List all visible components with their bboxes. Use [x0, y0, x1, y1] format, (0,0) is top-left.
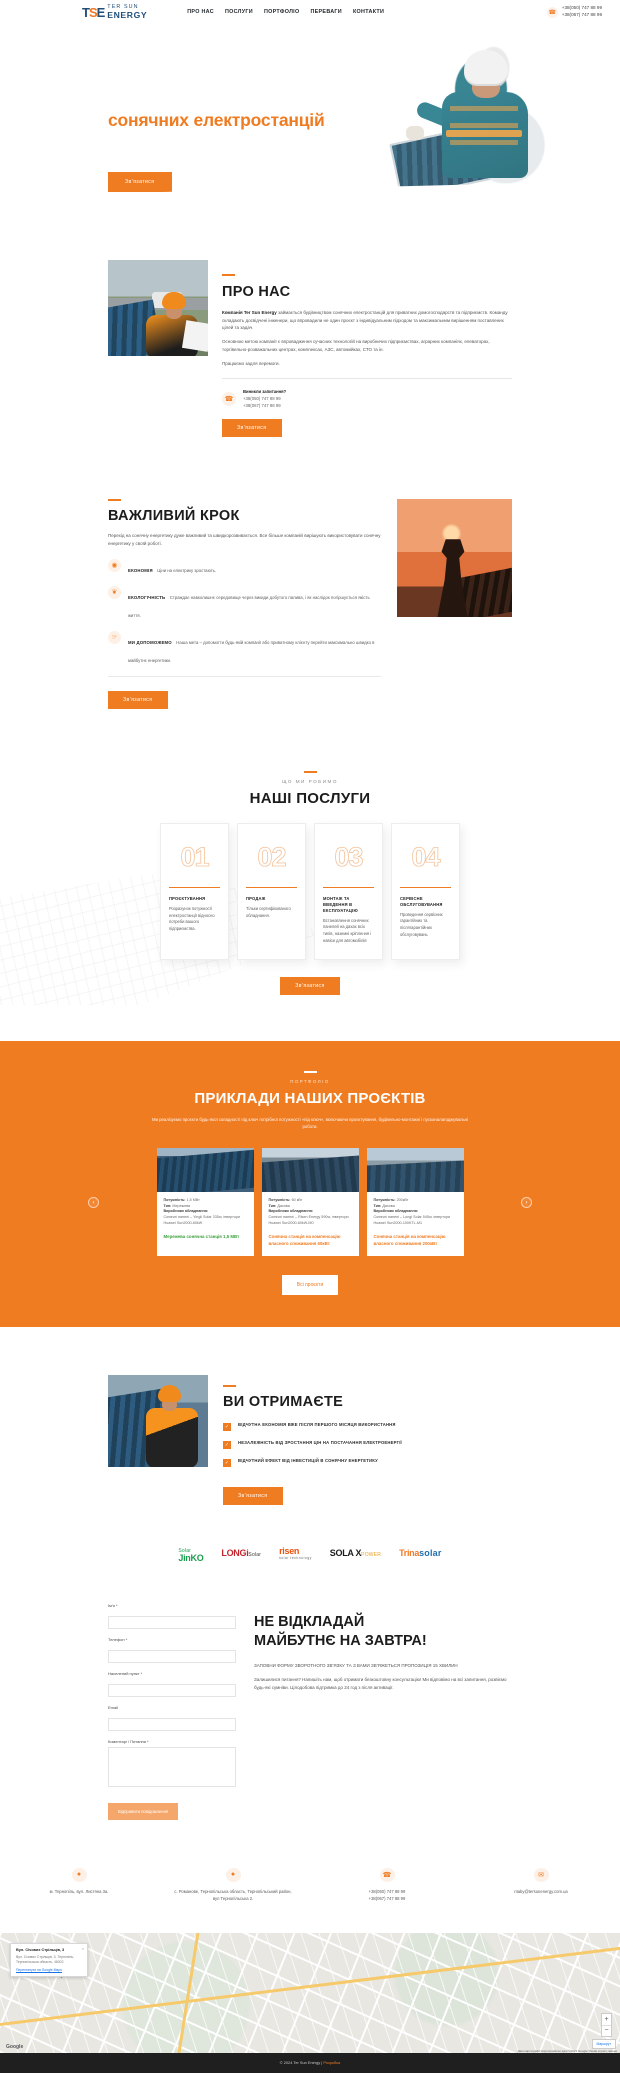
contact-item-email: ✉ ntaby@tersunenergy.com.ua: [481, 1868, 601, 1903]
site-logo[interactable]: TSE TER SUN ENERGY: [82, 5, 147, 20]
logo-mark-icon: TSE: [82, 6, 104, 19]
zoom-out-button[interactable]: −: [602, 2025, 611, 2036]
brand-suffix: POWER: [361, 1552, 381, 1558]
hero-title-line-1: Проєктування та будівництво: [108, 87, 362, 107]
portfolio-type-value: Мережева: [172, 1204, 190, 1208]
portfolio-card-meta: Потужність: 200кВт Тип: Дахова Виробники…: [374, 1198, 457, 1228]
portfolio-equipment-value: Сонячні панелі – Longi Solar 545w, інвер…: [374, 1215, 451, 1225]
form-paragraph-2: Залишилися питання? Напишіть нам, щоб от…: [254, 1676, 512, 1691]
map-card-link[interactable]: Переглянути на Google Maps: [16, 1968, 82, 1972]
portfolio-card-image: [262, 1148, 359, 1192]
portfolio-equipment-value: Сонячні панелі – Risen Energy 590w, інве…: [269, 1215, 349, 1225]
name-field-label: Ім'я *: [108, 1603, 236, 1608]
phone-icon: ☎: [222, 392, 236, 406]
contact-form: Ім'я * Телефон * Населений пункт * Email…: [108, 1603, 236, 1820]
portfolio-type-value: Дахова: [277, 1204, 289, 1208]
footer-text: © 2024 Ter Sun Energy | Розробка: [280, 2060, 340, 2065]
check-icon: ✓: [223, 1423, 231, 1431]
portfolio-subtitle: Ми реалізуємо проєкти будь-якої складнос…: [145, 1116, 475, 1131]
about-paragraph-1: Компанія Ter Sun Energy займається будів…: [222, 309, 512, 332]
brand-logo-jinko: SolarJinKO: [178, 1545, 203, 1563]
portfolio-card-name: Мережева сонячна станція 1,5 МВт: [164, 1234, 247, 1240]
portfolio-equipment-label: Виробники обладнання:: [269, 1209, 314, 1213]
service-rule: [169, 887, 220, 888]
location-icon: ●: [72, 1868, 87, 1882]
contact-item-phones: ☎ +38(050) 747 88 99 +38(067) 747 88 99: [327, 1868, 447, 1903]
service-rule: [323, 887, 374, 888]
portfolio-equipment-label: Виробники обладнання:: [374, 1209, 419, 1213]
contact-address-1-text: м. Тернопіль, вул. Листяна 3а.: [50, 1889, 109, 1896]
brand-name: SOLA X: [330, 1548, 361, 1558]
list-item: ☞ МИ ДОПОМОЖЕМО Наша мета – допомогти бу…: [108, 631, 381, 667]
service-number: 02: [246, 844, 297, 871]
city-input[interactable]: [108, 1684, 236, 1697]
brand-suffix: solar: [419, 1548, 442, 1558]
portfolio-card-name: Сонячна станція на компенсацію власного …: [269, 1234, 352, 1247]
service-rule: [246, 887, 297, 888]
contact-phones-text[interactable]: +38(050) 747 88 99 +38(067) 747 88 99: [369, 1889, 406, 1903]
about-section: ПРО НАС Компанія Ter Sun Energy займаєть…: [0, 214, 620, 437]
email-input[interactable]: [108, 1718, 236, 1731]
hero-title-line-3: для власного споживання: [108, 133, 331, 153]
comment-textarea[interactable]: [108, 1747, 236, 1787]
list-item: ✓ ВІДЧУТНА ЕКОНОМІЯ ВЖЕ ПІСЛЯ ПЕРШОГО МІ…: [223, 1422, 512, 1431]
nav-item-portfolio[interactable]: ПОРТФОЛІО: [264, 9, 300, 15]
step-dash-accent: [108, 499, 121, 501]
phone-input[interactable]: [108, 1650, 236, 1663]
handshake-icon: ☞: [108, 631, 121, 644]
portfolio-card[interactable]: Потужність: 200кВт Тип: Дахова Виробники…: [367, 1148, 464, 1256]
logo-line-2: ENERGY: [107, 11, 147, 20]
form-heading: НЕ ВІДКЛАДАЙ МАЙБУТНЄ НА ЗАВТРА!: [254, 1613, 512, 1651]
portfolio-type-label: Тип:: [269, 1204, 277, 1208]
portfolio-power-value: 200кВт: [397, 1198, 409, 1202]
hero-section: Проєктування та будівництво сонячних еле…: [0, 24, 620, 214]
step-section: ВАЖЛИВИЙ КРОК Перехід на сонячну енергет…: [0, 437, 620, 708]
portfolio-card-image: [157, 1148, 254, 1192]
step-cta-button[interactable]: Зв'язатися: [108, 691, 168, 709]
benefits-heading: ВИ ОТРИМАЄТЕ: [223, 1394, 512, 1410]
benefits-dash-accent: [223, 1385, 236, 1387]
step-intro: Перехід на сонячну енергетику дуже важли…: [108, 532, 381, 547]
footer-link[interactable]: Розробка: [323, 2060, 340, 2065]
portfolio-power-label: Потужність:: [374, 1198, 396, 1202]
benefit-text: ВІДЧУТНА ЕКОНОМІЯ ВЖЕ ПІСЛЯ ПЕРШОГО МІСЯ…: [238, 1422, 396, 1429]
step-heading: ВАЖЛИВИЙ КРОК: [108, 508, 381, 524]
footer-copyright: © 2024 Ter Sun Energy |: [280, 2060, 324, 2065]
step-image: [397, 499, 512, 617]
nav-item-benefits[interactable]: ПЕРЕВАГИ: [310, 9, 342, 15]
benefits-cta-button[interactable]: Зв'язатися: [223, 1487, 283, 1505]
brand-suffix: Solar: [248, 1552, 261, 1558]
brand-logos: SolarJinKO LONGiSolar risensolar technol…: [0, 1505, 620, 1597]
portfolio-power-label: Потужність:: [164, 1198, 186, 1202]
portfolio-carousel: ‹ Потужність: 1,5 МВт Тип: Мережева Виро…: [0, 1148, 620, 1256]
hero-copy: Проєктування та будівництво сонячних еле…: [108, 86, 362, 192]
zoom-in-button[interactable]: +: [602, 2014, 611, 2025]
about-heading: ПРО НАС: [222, 284, 512, 300]
service-title: СЕРВІСНЕ ОБСЛУГОВУВАННЯ: [400, 896, 451, 908]
brand-logo-risen: risensolar technology: [279, 1547, 312, 1560]
phone-icon: ☎: [547, 7, 558, 18]
phone-icon: ☎: [380, 1868, 395, 1882]
brand-name: risen: [279, 1546, 299, 1556]
service-card[interactable]: 01 ПРОЄКТУВАННЯ Розрахунок потужності ел…: [160, 823, 229, 960]
map-card-title: Вул. Січових Стрільців, 3: [16, 1948, 82, 1953]
nav-item-contacts[interactable]: КОНТАКТИ: [353, 9, 384, 15]
list-item: ❦ ЕКОЛОГІЧНІСТЬ Страждає навколишнє сере…: [108, 586, 381, 622]
phone-field-label: Телефон *: [108, 1637, 236, 1642]
portfolio-kicker: ПОРТФОЛІО: [0, 1079, 620, 1084]
nav-item-services[interactable]: ПОСЛУГИ: [225, 9, 253, 15]
benefits-section: ВИ ОТРИМАЄТЕ ✓ ВІДЧУТНА ЕКОНОМІЯ ВЖЕ ПІС…: [0, 1327, 620, 1505]
contact-item-address-1: ● м. Тернопіль, вул. Листяна 3а.: [19, 1868, 139, 1903]
comment-field-label: Коментарі / Питання *: [108, 1739, 236, 1744]
list-item: ✓ ВІДЧУТНИЙ ЕФЕКТ ВІД ІНВЕСТИЦІЙ В СОНЯЧ…: [223, 1458, 512, 1467]
service-card[interactable]: 02 ПРОДАЖ Тільки сертифікованого обладна…: [237, 823, 306, 960]
service-card[interactable]: 03 МОНТАЖ ТА ВВЕДЕННЯ В ЕКСПЛУАТАЦІЮ Вст…: [314, 823, 383, 960]
service-text: Тільки сертифікованого обладнання.: [246, 906, 297, 920]
portfolio-all-projects-button[interactable]: Всі проєкти: [282, 1275, 338, 1295]
list-item: ◉ ЕКОНОМІЯ Ціни на електрику зростають.: [108, 559, 381, 577]
main-nav: ПРО НАС ПОСЛУГИ ПОРТФОЛІО ПЕРЕВАГИ КОНТА…: [187, 9, 384, 15]
portfolio-dash-accent: [304, 1071, 317, 1073]
hero-title-line-2: сонячних електростанцій: [108, 110, 325, 130]
contact-bar: ● м. Тернопіль, вул. Листяна 3а. ● с. Ро…: [0, 1820, 620, 1933]
brand-logo-trina: Trinasolar: [399, 1549, 442, 1558]
step-item-title: ЕКОЛОГІЧНІСТЬ: [128, 595, 165, 600]
map-roads: [0, 1933, 620, 2053]
services-cta-button[interactable]: Зв'язатися: [280, 977, 340, 995]
service-text: Проведення сервісних гарантійних та післ…: [400, 912, 451, 940]
service-title: ПРОЄКТУВАННЯ: [169, 896, 220, 902]
about-contact-question: Виникли запитання?: [243, 389, 286, 394]
site-header: TSE TER SUN ENERGY ПРО НАС ПОСЛУГИ ПОРТФ…: [0, 0, 620, 24]
about-paragraph-2: Основною метою компанії є впровадження с…: [222, 338, 512, 353]
about-company-name: Компанія Ter Sun Energy: [222, 310, 277, 315]
close-icon[interactable]: ×: [82, 1946, 84, 1951]
email-field-label: Email: [108, 1705, 236, 1710]
step-divider: Зв'язатися: [108, 676, 381, 709]
service-number: 04: [400, 844, 451, 871]
services-kicker: ЩО МИ РОБИМО: [0, 779, 620, 784]
portfolio-card-meta: Потужність: 1,5 МВт Тип: Мережева Виробн…: [164, 1198, 247, 1228]
leaf-icon: ❦: [108, 586, 121, 599]
service-text: Розрахунок потужності електростанції від…: [169, 906, 220, 934]
header-phone-1[interactable]: +38(050) 747 88 99: [562, 5, 602, 12]
portfolio-heading: ПРИКЛАДИ НАШИХ ПРОЄКТІВ: [0, 1090, 620, 1107]
portfolio-card[interactable]: Потужність: 60 кВт Тип: Дахова Виробники…: [262, 1148, 359, 1256]
services-section: ЩО МИ РОБИМО НАШІ ПОСЛУГИ 01 ПРОЄКТУВАНН…: [0, 709, 620, 995]
contact-email-text[interactable]: ntaby@tersunenergy.com.ua: [514, 1889, 568, 1896]
portfolio-equipment-value: Сонячні панелі – Yingli Solar 335w, інве…: [164, 1215, 240, 1225]
map-attribution: Дані картографії Картографічні дані ©202…: [518, 2049, 617, 2053]
about-dash-accent: [222, 274, 235, 276]
portfolio-card-image: [367, 1148, 464, 1192]
contact-form-section: Ім'я * Телефон * Населений пункт * Email…: [0, 1597, 620, 1820]
services-dash-accent: [304, 771, 317, 773]
nav-item-about[interactable]: ПРО НАС: [187, 9, 214, 15]
brand-logo-solax: SOLA XPOWER: [330, 1549, 381, 1558]
portfolio-section: ПОРТФОЛІО ПРИКЛАДИ НАШИХ ПРОЄКТІВ Ми реа…: [0, 1041, 620, 1327]
map-section[interactable]: × Вул. Січових Стрільців, 3 Вул. Січових…: [0, 1933, 620, 2053]
header-phone-2[interactable]: +38(067) 747 88 99: [562, 12, 602, 19]
form-heading-line-1: НЕ ВІДКЛАДАЙ: [254, 1614, 364, 1630]
services-grid: 01 ПРОЄКТУВАННЯ Розрахунок потужності ел…: [0, 823, 620, 960]
services-heading: НАШІ ПОСЛУГИ: [0, 790, 620, 807]
map-zoom-controls: + −: [601, 2013, 612, 2037]
service-title: МОНТАЖ ТА ВВЕДЕННЯ В ЕКСПЛУАТАЦІЮ: [323, 896, 374, 914]
service-title: ПРОДАЖ: [246, 896, 297, 902]
portfolio-type-value: Дахова: [382, 1204, 394, 1208]
brand-name: JinKO: [178, 1553, 203, 1563]
portfolio-card-meta: Потужність: 60 кВт Тип: Дахова Виробники…: [269, 1198, 352, 1228]
portfolio-card[interactable]: Потужність: 1,5 МВт Тип: Мережева Виробн…: [157, 1148, 254, 1256]
portfolio-card-name: Сонячна станція на компенсацію власного …: [374, 1234, 457, 1247]
portfolio-type-label: Тип:: [374, 1204, 382, 1208]
service-rule: [400, 887, 451, 888]
about-contact-block: ☎ Виникли запитання? +38(050) 747 88 99 …: [222, 378, 512, 409]
hero-cta-button[interactable]: Зв'язатися: [108, 172, 172, 192]
about-paragraph-3: Працюємо задля перемоги.: [222, 360, 512, 368]
portfolio-type-label: Тип:: [164, 1204, 172, 1208]
next-arrow-icon[interactable]: ›: [521, 1197, 532, 1208]
step-item-title: ЕКОНОМІЯ: [128, 568, 153, 573]
portfolio-power-value: 60 кВт: [292, 1198, 303, 1202]
step-item-text: Ціни на електрику зростають.: [157, 568, 216, 573]
page-root: TSE TER SUN ENERGY ПРО НАС ПОСЛУГИ ПОРТФ…: [0, 0, 620, 2073]
contact-address-2-text: с. Романове, Тернопільська область, Терн…: [173, 1889, 293, 1903]
contact-item-address-2: ● с. Романове, Тернопільська область, Те…: [173, 1868, 293, 1903]
submit-button[interactable]: Відправити повідомлення: [108, 1803, 178, 1820]
name-input[interactable]: [108, 1616, 236, 1629]
about-cta-button[interactable]: Зв'язатися: [222, 419, 282, 437]
map-directions-button[interactable]: Маршрут: [592, 2039, 616, 2049]
mail-icon: ✉: [534, 1868, 549, 1882]
map-info-card: × Вул. Січових Стрільців, 3 Вул. Січових…: [10, 1943, 88, 1977]
check-icon: ✓: [223, 1441, 231, 1449]
brand-name: LONGi: [221, 1548, 248, 1558]
portfolio-equipment-label: Виробники обладнання:: [164, 1209, 209, 1213]
prev-arrow-icon[interactable]: ‹: [88, 1197, 99, 1208]
step-item-text: Страждає навколишнє середовище через вик…: [128, 595, 370, 618]
map-card-subtitle: Вул. Січових Стрільців, 3, Тернопіль, Те…: [16, 1955, 82, 1965]
about-phone-1[interactable]: +38(050) 747 88 99: [243, 396, 286, 402]
portfolio-power-label: Потужність:: [269, 1198, 291, 1202]
benefits-image: [108, 1375, 208, 1467]
step-item-title: МИ ДОПОМОЖЕМО: [128, 640, 172, 645]
service-text: Встановлення сонячних панелей на дахах в…: [323, 918, 374, 946]
brand-name: Trina: [399, 1548, 419, 1558]
benefit-text: НЕЗАЛЕЖНІСТЬ ВІД ЗРОСТАННЯ ЦІН НА ПОСТАЧ…: [238, 1440, 402, 1447]
hero-title: Проєктування та будівництво сонячних еле…: [108, 86, 362, 155]
brand-suffix: solar technology: [279, 1557, 312, 1560]
form-paragraph-1: ЗАПОВНИ ФОРМУ ЗВОРОТНОГО ЗВ'ЯЗКУ ТА З ВА…: [254, 1662, 512, 1670]
about-image: [108, 260, 208, 356]
list-item: ✓ НЕЗАЛЕЖНІСТЬ ВІД ЗРОСТАННЯ ЦІН НА ПОСТ…: [223, 1440, 512, 1449]
service-card[interactable]: 04 СЕРВІСНЕ ОБСЛУГОВУВАННЯ Проведення се…: [391, 823, 460, 960]
service-number: 03: [323, 844, 374, 871]
header-phones: ☎ +38(050) 747 88 99 +38(067) 747 88 99: [547, 5, 602, 18]
benefit-text: ВІДЧУТНИЙ ЕФЕКТ ВІД ІНВЕСТИЦІЙ В СОНЯЧНУ…: [238, 1458, 378, 1465]
city-field-label: Населений пункт *: [108, 1671, 236, 1676]
location-icon: ●: [226, 1868, 241, 1882]
site-footer: © 2024 Ter Sun Energy | Розробка: [0, 2053, 620, 2073]
form-heading-line-2: МАЙБУТНЄ НА ЗАВТРА!: [254, 1633, 427, 1649]
check-icon: ✓: [223, 1459, 231, 1467]
portfolio-power-value: 1,5 МВт: [187, 1198, 200, 1202]
brand-logo-longi: LONGiSolar: [221, 1549, 261, 1558]
map-logo: Google: [6, 2044, 23, 2050]
coins-icon: ◉: [108, 559, 121, 572]
about-phone-2[interactable]: +38(067) 747 88 99: [243, 403, 286, 409]
step-list: ◉ ЕКОНОМІЯ Ціни на електрику зростають. …: [108, 559, 381, 667]
service-number: 01: [169, 844, 220, 871]
